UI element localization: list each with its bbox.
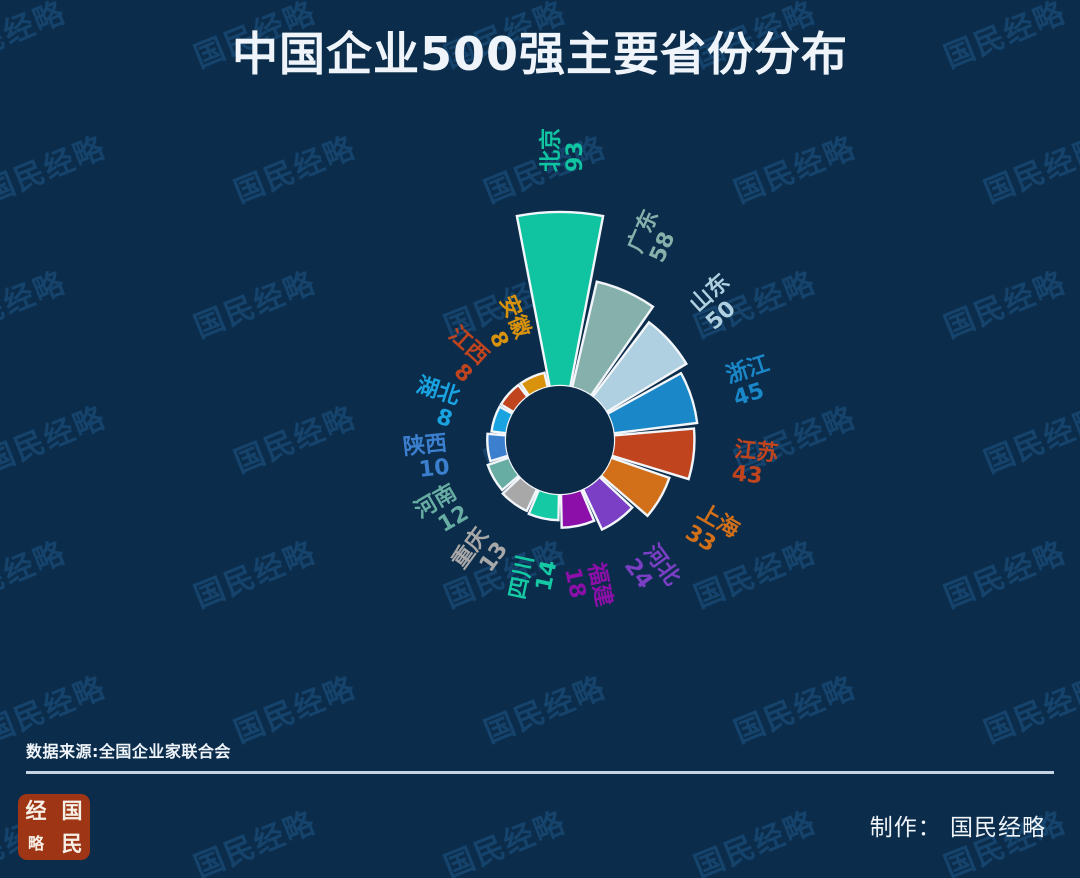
slice-label-河南: 河南12: [411, 480, 474, 544]
slice-label-浙江: 浙江45: [723, 351, 780, 411]
slice-label-value: 93: [563, 141, 588, 172]
infographic-page: 国民经略国民经略国民经略国民经略国民经略国民经略国民经略国民经略国民经略国民经略…: [0, 0, 1080, 878]
slice-label-value: 18: [559, 566, 590, 601]
slice-label-四川: 四川14: [505, 553, 562, 606]
rose-chart-container: 北京93广东58山东50浙江45江苏43上海33河北24福建18四川14重庆13…: [0, 70, 1080, 710]
brand-logo: 经 国 略 民: [18, 794, 90, 860]
watermark-text: 国民经略: [686, 798, 821, 878]
slice-label-江苏: 江苏43: [731, 436, 780, 490]
logo-char-4: 民: [62, 833, 83, 854]
slice-label-value: 10: [418, 455, 451, 483]
slice-label-广东: 广东58: [622, 206, 686, 267]
slice-label-value: 8: [433, 404, 455, 433]
slice-label-name: 北京: [538, 128, 564, 172]
slice-label-上海: 上海33: [681, 499, 744, 564]
donut-hole: [506, 386, 614, 494]
credit-text: 制作： 国民经略: [870, 808, 1046, 842]
watermark-text: 国民经略: [436, 798, 571, 878]
footer-divider: [26, 771, 1054, 774]
slice-label-value: 43: [731, 461, 764, 489]
slice-label-北京: 北京93: [538, 128, 588, 172]
logo-char-3: 略: [28, 836, 44, 852]
data-source-note: 数据来源:全国企业家联合会: [26, 738, 231, 762]
page-title: 中国企业500强主要省份分布: [0, 18, 1080, 84]
slice-label-福建: 福建18: [559, 560, 616, 614]
logo-char-2: 国: [62, 800, 83, 821]
slice-label-河北: 河北24: [619, 540, 685, 604]
logo-char-1: 经: [26, 800, 47, 821]
nightingale-rose-chart: 北京93广东58山东50浙江45江苏43上海33河北24福建18四川14重庆13…: [0, 70, 1080, 710]
slice-label-重庆: 重庆13: [447, 523, 513, 588]
watermark-text: 国民经略: [186, 798, 321, 878]
slice-label-陕西: 陕西10: [402, 431, 451, 484]
rose-slice-陕西[interactable]: [487, 434, 508, 461]
slice-label-value: 14: [532, 558, 563, 593]
slice-label-山东: 山东50: [685, 269, 751, 336]
